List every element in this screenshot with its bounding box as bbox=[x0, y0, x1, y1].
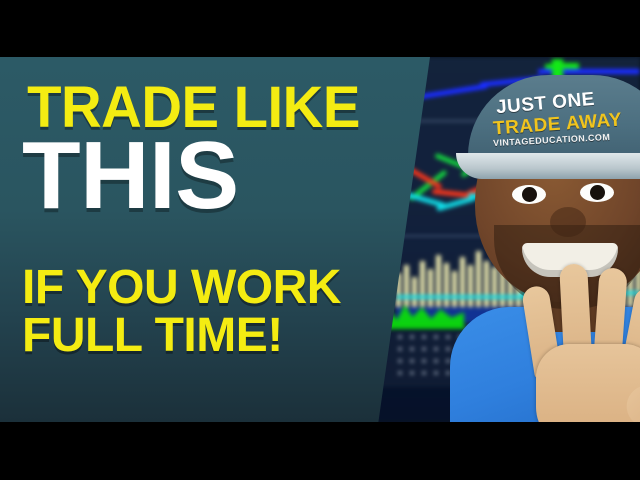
presenter-open-hand bbox=[518, 262, 640, 422]
headline-line-4: FULL TIME! bbox=[22, 308, 283, 363]
presenter-right-eye bbox=[580, 183, 614, 202]
presenter-nose bbox=[550, 207, 586, 237]
letterbox-bar-bottom bbox=[0, 422, 640, 480]
palm bbox=[536, 344, 640, 422]
pupil bbox=[522, 187, 537, 202]
headline-copy: TRADE LIKE THIS IF YOU WORK FULL TIME! bbox=[0, 57, 400, 422]
headline-line-3: IF YOU WORK bbox=[22, 260, 341, 315]
video-thumbnail: JUST ONE TRADE AWAY VINTAGEDUCATION.COM … bbox=[0, 0, 640, 480]
headline-line-2: THIS bbox=[22, 133, 239, 219]
pupil bbox=[590, 185, 605, 200]
thumbnail-image: JUST ONE TRADE AWAY VINTAGEDUCATION.COM … bbox=[0, 57, 640, 422]
presenter-left-eye bbox=[512, 185, 546, 204]
letterbox-bar-top bbox=[0, 0, 640, 57]
cap-brim bbox=[456, 153, 640, 179]
